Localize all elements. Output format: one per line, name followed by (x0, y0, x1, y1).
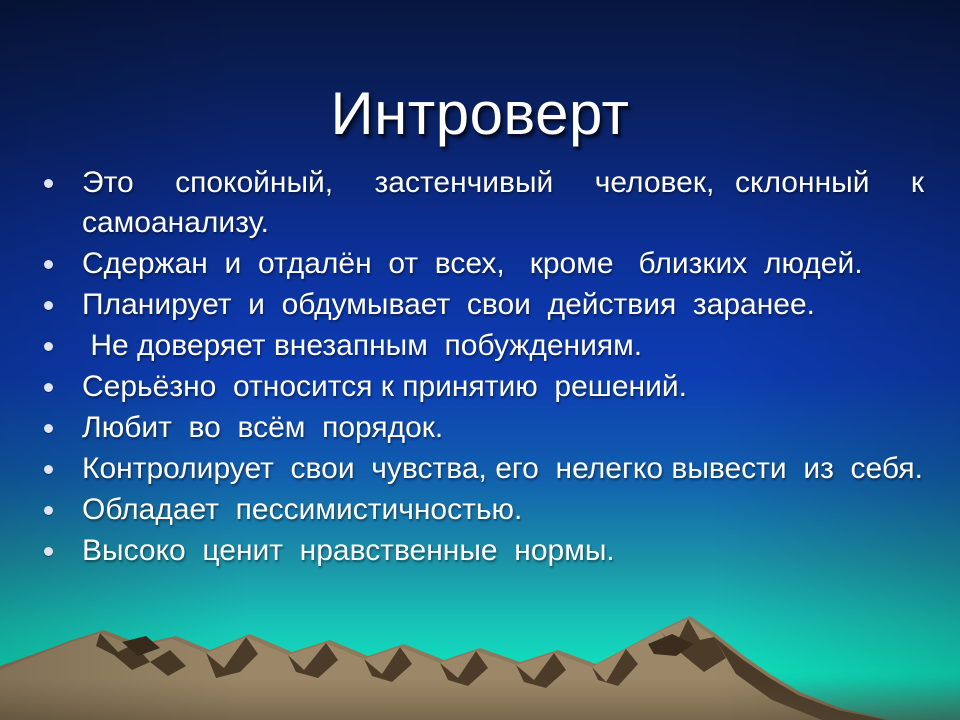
list-item-label: Не доверяет внезапным побуждениям. (82, 326, 924, 366)
list-item-label: Планирует и обдумывает свои действия зар… (82, 285, 924, 325)
list-item: Высоко ценит нравственные нормы. (44, 531, 924, 571)
bullet-dot-icon (44, 244, 82, 269)
list-item-label: Обладает пессимистичностью. (82, 490, 924, 530)
list-item-label: Это спокойный, застенчивый человек, скло… (82, 163, 924, 243)
bullet-dot-icon (44, 449, 82, 474)
list-item: Сдержан и отдалён от всех, кроме близких… (44, 244, 924, 284)
list-item: Планирует и обдумывает свои действия зар… (44, 285, 924, 325)
bullet-dot-icon (44, 367, 82, 392)
list-item-label: Высоко ценит нравственные нормы. (82, 531, 924, 571)
mountain-base-gradient (0, 678, 960, 720)
list-item-label: Любит во всём порядок. (82, 408, 924, 448)
bullet-list: Это спокойный, застенчивый человек, скло… (44, 163, 924, 572)
bullet-dot-icon (44, 285, 82, 310)
bullet-dot-icon (44, 326, 82, 351)
list-item: Не доверяет внезапным побуждениям. (44, 326, 924, 366)
mountain-range-graphic (0, 600, 960, 720)
presentation-slide: Интроверт Это спокойный, застенчивый чел… (0, 0, 960, 720)
bullet-dot-icon (44, 163, 82, 188)
list-item: Контролирует свои чувства, его нелегко в… (44, 449, 924, 489)
bullet-dot-icon (44, 408, 82, 433)
page-title: Интроверт (0, 82, 960, 145)
list-item: Обладает пессимистичностью. (44, 490, 924, 530)
bullet-dot-icon (44, 531, 82, 556)
list-item: Любит во всём порядок. (44, 408, 924, 448)
list-item-label: Серьёзно относится к принятию решений. (82, 367, 924, 407)
list-item: Это спокойный, застенчивый человек, скло… (44, 163, 924, 243)
bullet-dot-icon (44, 490, 82, 515)
list-item-label: Контролирует свои чувства, его нелегко в… (82, 449, 924, 489)
list-item: Серьёзно относится к принятию решений. (44, 367, 924, 407)
list-item-label: Сдержан и отдалён от всех, кроме близких… (82, 244, 924, 284)
